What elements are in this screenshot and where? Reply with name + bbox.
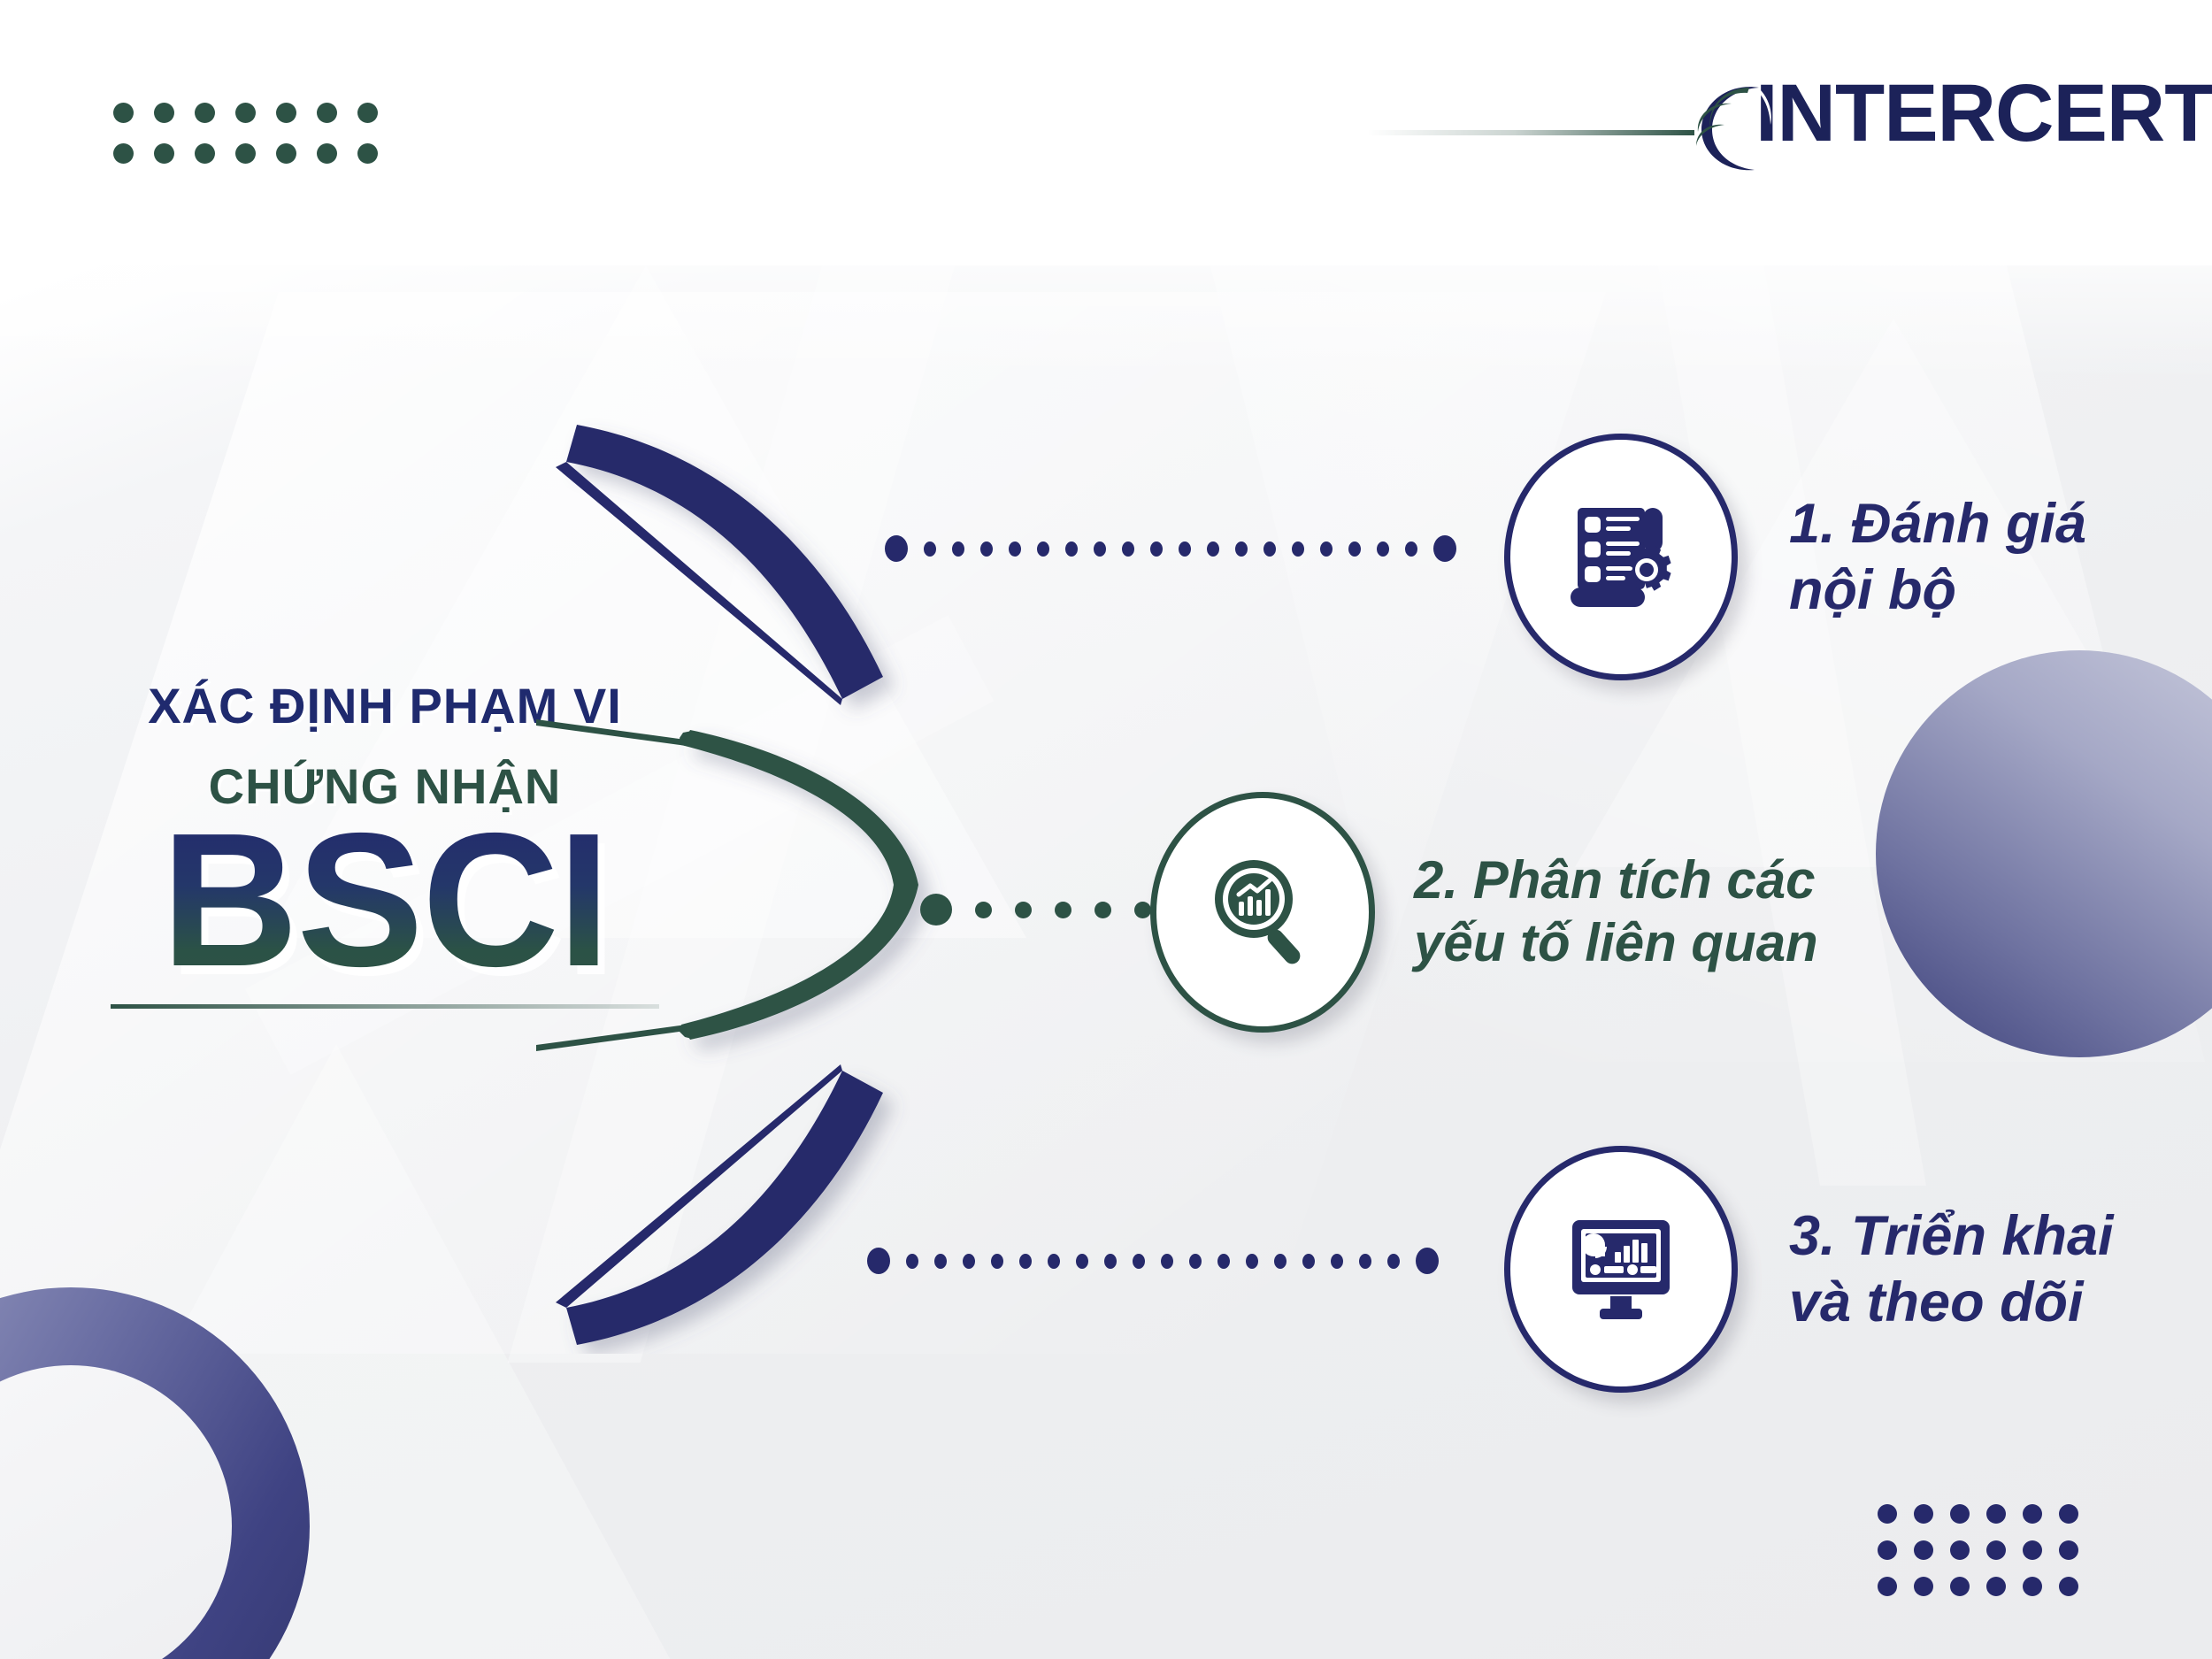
step-item-1[interactable]: 1. Đánh giá nội bộ — [1504, 434, 2086, 680]
step-3-line-1: 3. Triển khai — [1789, 1203, 2114, 1269]
dot-grid-icon — [1878, 1504, 2095, 1613]
step-item-3[interactable]: 3. Triển khai và theo dõi — [1504, 1146, 2114, 1393]
infographic-canvas: INTERCERT ® XÁC ĐỊNH PHẠM VI CHỨNG NHẬN … — [0, 0, 2212, 1659]
connector-dotted-line-3 — [867, 1248, 1439, 1274]
step-2-line-2: yếu tố liên quan — [1414, 912, 1818, 975]
logo-wordmark: INTERCERT — [1755, 75, 2212, 152]
globe-swoosh-icon — [1686, 79, 1778, 176]
step-2-line-1: 2. Phân tích các — [1414, 849, 1818, 912]
step-1-line-1: 1. Đánh giá — [1789, 491, 2086, 557]
step-1-label: 1. Đánh giá nội bộ — [1789, 491, 2086, 623]
step-1-badge — [1504, 434, 1738, 680]
checklist-document-gear-icon — [1562, 495, 1681, 619]
header-rule — [1367, 130, 1694, 135]
connector-dotted-line-1 — [885, 535, 1456, 562]
monitor-dashboard-icon — [1562, 1208, 1681, 1332]
step-3-line-2: và theo dõi — [1789, 1270, 2114, 1335]
background-fade — [0, 204, 2212, 380]
dot-grid-icon — [113, 103, 398, 184]
step-3-badge — [1504, 1146, 1738, 1393]
magnifier-bar-chart-icon — [1203, 850, 1323, 974]
step-2-badge — [1150, 792, 1375, 1033]
intercert-logo: INTERCERT ® — [1686, 75, 2212, 176]
step-3-label: 3. Triển khai và theo dõi — [1789, 1203, 2114, 1335]
step-item-2[interactable]: 2. Phân tích các yếu tố liên quan — [1150, 792, 1818, 1033]
step-1-line-2: nội bộ — [1789, 557, 2086, 623]
step-2-label: 2. Phân tích các yếu tố liên quan — [1414, 849, 1818, 975]
